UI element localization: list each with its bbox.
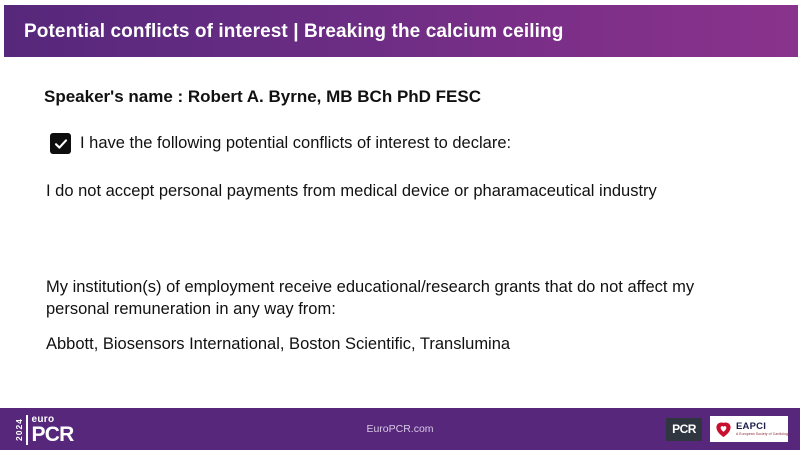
slide-root: Potential conflicts of interest | Breaki…: [0, 0, 800, 450]
pcr-badge: PCR: [666, 418, 702, 441]
eapci-subtitle: A European Society of Cardiology: [736, 433, 790, 436]
speaker-name-line: Speaker's name : Robert A. Byrne, MB BCh…: [44, 87, 481, 107]
europcr-logo: 2024 euro PCR: [14, 414, 73, 446]
paragraph-companies: Abbott, Biosensors International, Boston…: [46, 334, 746, 356]
logo-pcr-text: PCR: [32, 426, 74, 445]
logo-year: 2024: [14, 414, 24, 446]
page-title: Potential conflicts of interest | Breaki…: [24, 22, 563, 41]
slide-footer: 2024 euro PCR EuroPCR.com PCR EAPCI A E: [0, 408, 800, 450]
footer-logo-group: PCR EAPCI A European Society of Cardiolo…: [666, 408, 788, 450]
slide-header: Potential conflicts of interest | Breaki…: [4, 5, 798, 57]
declaration-label: I have the following potential conflicts…: [80, 134, 511, 153]
logo-wordmark: euro PCR: [32, 414, 74, 446]
heart-icon: [715, 421, 732, 438]
declaration-row: I have the following potential conflicts…: [50, 133, 511, 154]
eapci-text: EAPCI A European Society of Cardiology: [736, 422, 790, 436]
logo-divider: [26, 415, 28, 445]
slide-body: Speaker's name : Robert A. Byrne, MB BCh…: [0, 57, 800, 408]
check-icon: [54, 137, 68, 151]
paragraph-payments: I do not accept personal payments from m…: [46, 181, 746, 203]
declaration-checkbox[interactable]: [50, 133, 71, 154]
eapci-badge: EAPCI A European Society of Cardiology: [710, 416, 788, 442]
eapci-name: EAPCI: [736, 422, 790, 432]
paragraph-grants: My institution(s) of employment receive …: [46, 277, 756, 321]
